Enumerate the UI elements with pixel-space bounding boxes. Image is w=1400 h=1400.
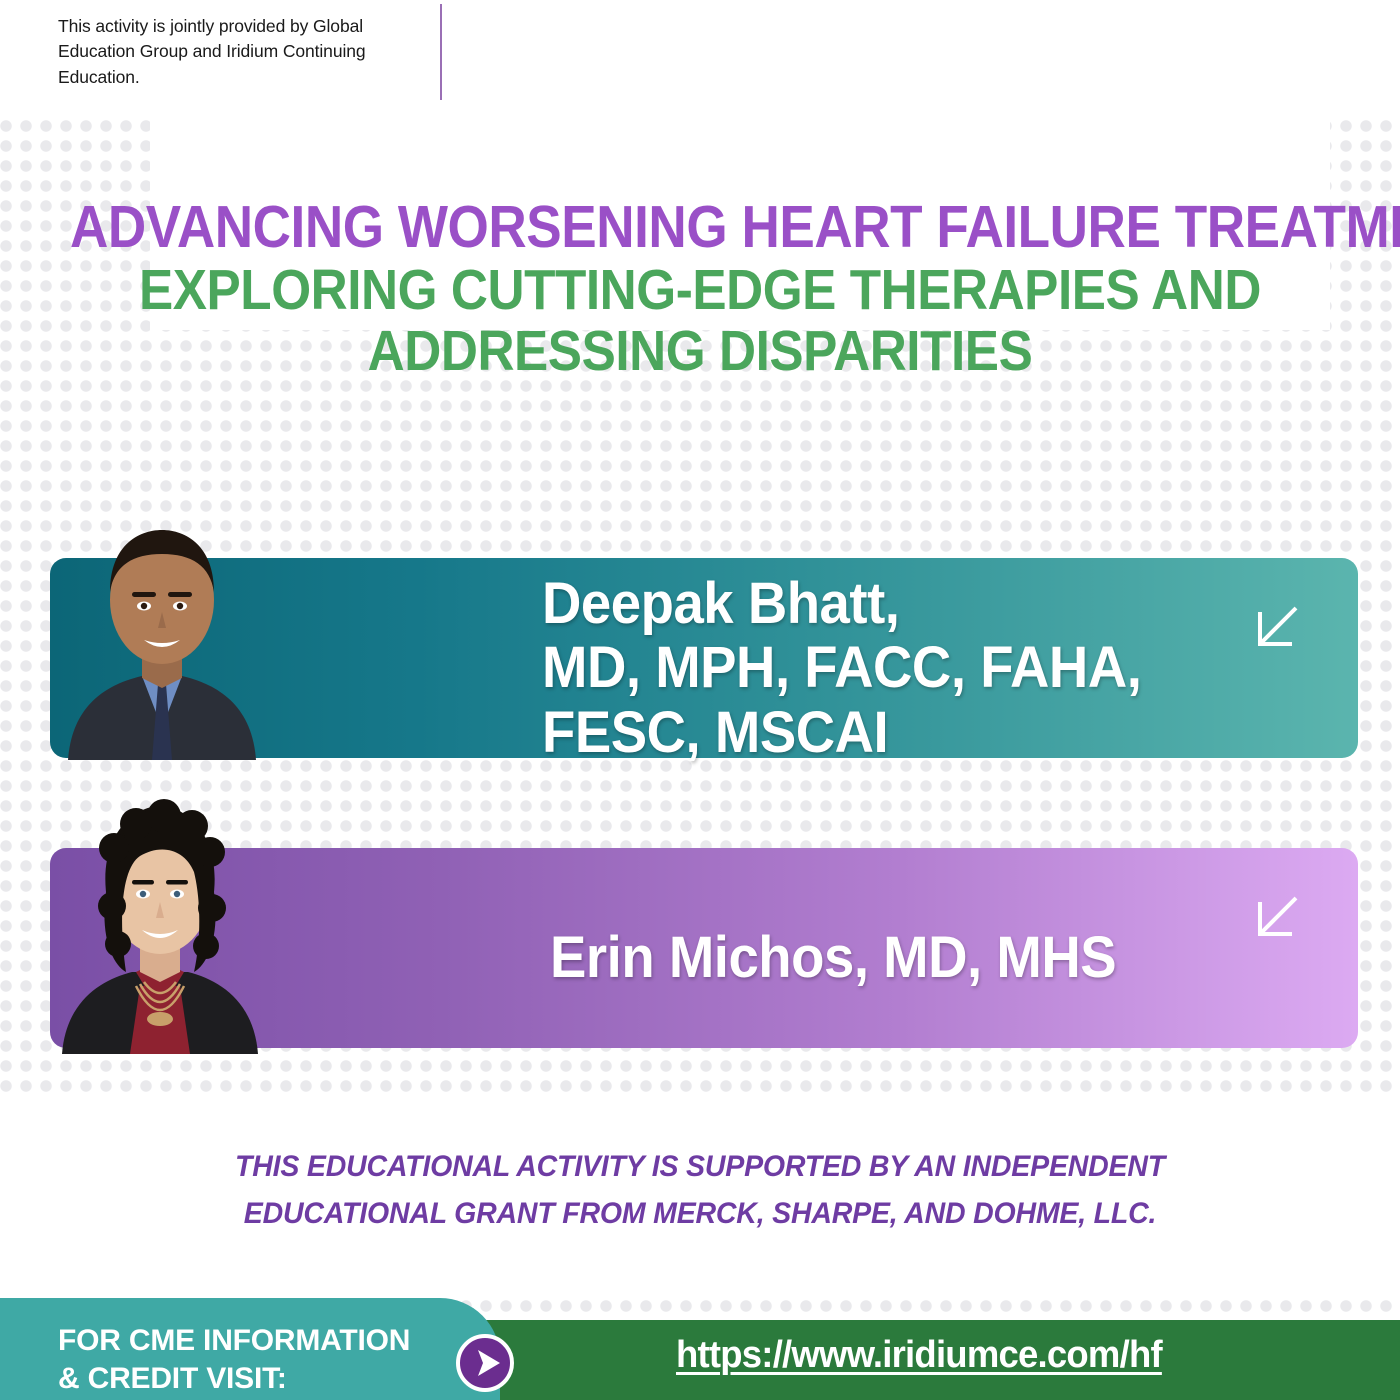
page-title: ADVANCING WORSENING HEART FAILURE TREATM… — [0, 196, 1400, 383]
cme-url-link[interactable]: https://www.iridiumce.com/hf — [676, 1334, 1162, 1377]
header: This activity is jointly provided by Glo… — [0, 0, 1400, 118]
title-line-3: ADDRESSING DISPARITIES — [70, 321, 1330, 383]
play-icon[interactable] — [456, 1334, 514, 1392]
speaker-name-block: Erin Michos, MD, MHS — [550, 926, 1116, 990]
speaker-name-line-3: FESC, MSCAI — [542, 701, 1141, 765]
support-statement: THIS EDUCATIONAL ACTIVITY IS SUPPORTED B… — [0, 1144, 1400, 1237]
speaker-name-block: Deepak Bhatt, MD, MPH, FACC, FAHA, FESC,… — [542, 572, 1141, 765]
arrow-down-left-icon[interactable] — [1250, 892, 1302, 944]
speaker-name-line-1: Deepak Bhatt, — [542, 572, 1141, 636]
cme-info-line-2: & CREDIT VISIT: — [58, 1360, 410, 1398]
speaker-photo-erin-michos — [44, 776, 276, 1054]
cme-info-line-1: FOR CME INFORMATION — [58, 1322, 410, 1360]
jointly-provided-statement: This activity is jointly provided by Glo… — [0, 0, 440, 90]
cme-info-label: FOR CME INFORMATION & CREDIT VISIT: — [58, 1322, 410, 1398]
speaker-name-line-1: Erin Michos, MD, MHS — [550, 926, 1116, 990]
arrow-down-left-icon[interactable] — [1250, 602, 1302, 654]
title-line-2: EXPLORING CUTTING-EDGE THERAPIES AND — [70, 260, 1330, 322]
portrait-placeholder — [44, 776, 276, 1054]
support-statement-line-2: EDUCATIONAL GRANT FROM MERCK, SHARPE, AN… — [35, 1191, 1365, 1238]
support-statement-line-1: THIS EDUCATIONAL ACTIVITY IS SUPPORTED B… — [35, 1144, 1365, 1191]
portrait-placeholder — [50, 488, 274, 760]
speaker-name-line-2: MD, MPH, FACC, FAHA, — [542, 636, 1141, 700]
speaker-photo-deepak-bhatt — [50, 488, 274, 760]
title-line-1: ADVANCING WORSENING HEART FAILURE TREATM… — [70, 196, 1330, 260]
header-divider — [440, 4, 442, 100]
